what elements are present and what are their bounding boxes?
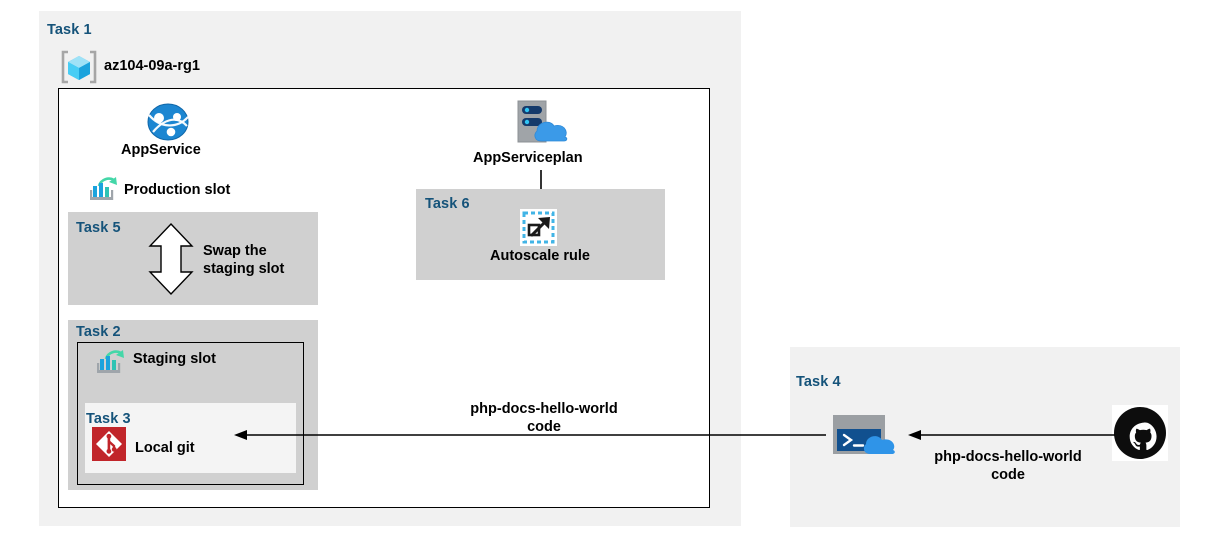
swap-label-line1: Swap the [203, 243, 267, 259]
cloudshell-to-localgit-arrow [226, 428, 826, 442]
autoscale-icon [520, 209, 557, 246]
task3-label: Task 3 [86, 411, 131, 427]
github-edge-label-line1: php-docs-hello-world [934, 449, 1081, 465]
cloud-shell-icon [832, 414, 900, 456]
app-service-plan-icon [511, 99, 575, 149]
app-service-icon [146, 102, 190, 142]
deployment-slot-icon-production [88, 175, 120, 205]
git-icon [92, 427, 126, 461]
resource-group-label: az104-09a-rg1 [104, 58, 200, 76]
edge-label-line1: php-docs-hello-world [470, 401, 617, 417]
task1-label: Task 1 [47, 22, 92, 38]
staging-slot-label: Staging slot [133, 351, 216, 369]
swap-arrow-icon [146, 222, 196, 296]
app-service-label: AppService [121, 142, 201, 160]
github-to-cloudshell-label: php-docs-hello-world code [908, 449, 1108, 484]
app-service-plan-label: AppServiceplan [473, 150, 583, 168]
resource-group-icon [60, 49, 98, 85]
local-git-label: Local git [135, 440, 195, 458]
autoscale-rule-label: Autoscale rule [490, 248, 590, 266]
task4-label: Task 4 [796, 374, 841, 390]
diagram-canvas: Task 1 az104-09a-rg1 AppService [0, 0, 1218, 545]
swap-label: Swap the staging slot [203, 243, 284, 278]
deployment-slot-icon-staging [95, 348, 127, 378]
github-edge-label-line2: code [991, 467, 1025, 483]
github-to-cloudshell-arrow [900, 428, 1115, 442]
swap-label-line2: staging slot [203, 261, 284, 277]
github-icon [1112, 405, 1168, 461]
task6-label: Task 6 [425, 196, 470, 212]
task2-label: Task 2 [76, 324, 121, 340]
task5-label: Task 5 [76, 220, 121, 236]
production-slot-label: Production slot [124, 182, 230, 200]
